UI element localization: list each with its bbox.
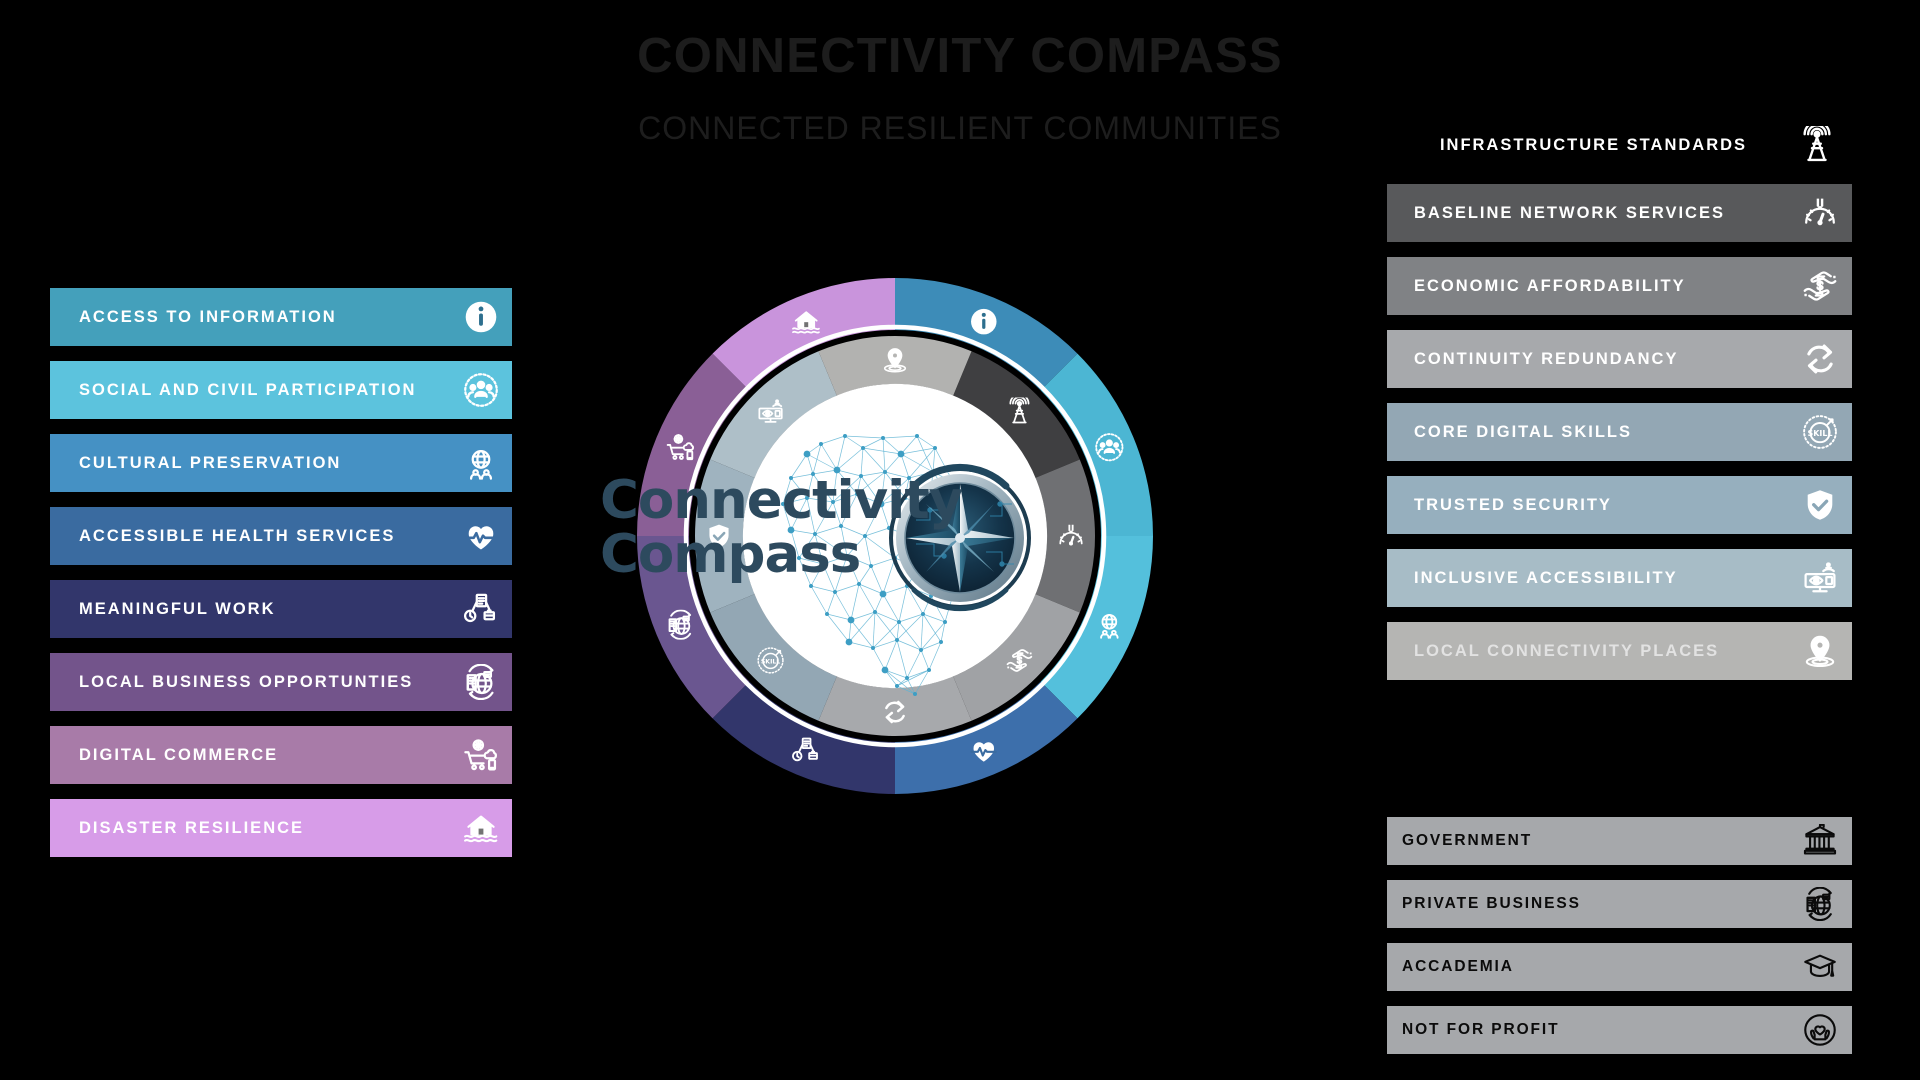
outcome-bar[interactable]: LOCAL BUSINESS OPPORTUNTIES <box>50 653 512 711</box>
standard-bar-label: LOCAL CONNECTIVITY PLACES <box>1387 642 1788 661</box>
compass-rose-logo <box>891 467 1029 608</box>
standard-bar-label: CORE DIGITAL SKILLS <box>1387 423 1788 442</box>
stakeholder-bar[interactable]: PRIVATE BUSINESS <box>1387 880 1852 928</box>
standards-header: INFRASTRUCTURE STANDARDS <box>1387 122 1852 168</box>
money-hand-icon <box>1788 257 1852 315</box>
standard-bar-label: ECONOMIC AFFORDABILITY <box>1387 277 1788 296</box>
work-tasks-icon <box>450 580 512 638</box>
outcome-bar-label: ACCESS TO INFORMATION <box>50 308 450 327</box>
standard-bar[interactable]: INCLUSIVE ACCESSIBILITY <box>1387 549 1852 607</box>
stakeholder-bar-label: PRIVATE BUSINESS <box>1387 895 1788 913</box>
standard-bar[interactable]: BASELINE NETWORK SERVICES <box>1387 184 1852 242</box>
outcome-bar[interactable]: ACCESSIBLE HEALTH SERVICES <box>50 507 512 565</box>
infrastructure-standards-panel: INFRASTRUCTURE STANDARDS BASELINE NETWOR… <box>1387 122 1852 695</box>
standard-bar-label: BASELINE NETWORK SERVICES <box>1387 204 1788 223</box>
outcome-bar-label: CULTURAL PRESERVATION <box>50 454 450 473</box>
radio-tower-icon <box>1782 122 1852 168</box>
business-globe-icon <box>450 653 512 711</box>
shopping-cart-icon <box>450 726 512 784</box>
stakeholder-bar-label: ACCADEMIA <box>1387 958 1788 976</box>
outcome-bar-label: DIGITAL COMMERCE <box>50 746 450 765</box>
skill-badge-icon: SKILL <box>1788 403 1852 461</box>
standard-bar-label: INCLUSIVE ACCESSIBILITY <box>1387 569 1788 588</box>
information-icon <box>450 288 512 346</box>
eye-screen-icon <box>1788 549 1852 607</box>
wheel-diagram: SKILL <box>545 186 1245 886</box>
standards-list: BASELINE NETWORK SERVICES ECONOMIC AFFOR… <box>1387 184 1852 680</box>
people-group-icon <box>450 361 512 419</box>
standard-bar-label: TRUSTED SECURITY <box>1387 496 1788 515</box>
outcome-bar-label: ACCESSIBLE HEALTH SERVICES <box>50 527 450 546</box>
refresh-loop-icon <box>1788 330 1852 388</box>
connectivity-compass-wheel: SKILL Connectivity Compass <box>545 186 1245 886</box>
standard-bar[interactable]: CORE DIGITAL SKILLS SKILL <box>1387 403 1852 461</box>
standard-bar[interactable]: CONTINUITY REDUNDANCY <box>1387 330 1852 388</box>
outcomes-list: ACCESS TO INFORMATION SOCIAL AND CIVIL P… <box>50 288 512 872</box>
svg-text:SKILL: SKILL <box>761 658 780 665</box>
stakeholder-bar-label: GOVERNMENT <box>1387 832 1788 850</box>
graduation-cap-icon <box>1788 943 1852 991</box>
standard-bar[interactable]: LOCAL CONNECTIVITY PLACES <box>1387 622 1852 680</box>
outcome-bar-label: MEANINGFUL WORK <box>50 600 450 619</box>
stakeholder-bar[interactable]: NOT FOR PROFIT <box>1387 1006 1852 1054</box>
government-building-icon <box>1788 817 1852 865</box>
standard-bar-label: CONTINUITY REDUNDANCY <box>1387 350 1788 369</box>
information-icon <box>971 309 997 335</box>
stakeholder-bar[interactable]: GOVERNMENT <box>1387 817 1852 865</box>
outcome-bar-label: LOCAL BUSINESS OPPORTUNTIES <box>50 673 450 692</box>
outcome-bar[interactable]: ACCESS TO INFORMATION <box>50 288 512 346</box>
map-pin-icon <box>1788 622 1852 680</box>
flood-house-icon <box>450 799 512 857</box>
heartbeat-icon <box>450 507 512 565</box>
outcome-bar[interactable]: SOCIAL AND CIVIL PARTICIPATION <box>50 361 512 419</box>
stakeholder-bar-label: NOT FOR PROFIT <box>1387 1021 1788 1039</box>
speed-gauge-icon <box>1788 184 1852 242</box>
standard-bar[interactable]: ECONOMIC AFFORDABILITY <box>1387 257 1852 315</box>
hands-heart-icon <box>1788 1006 1852 1054</box>
outcome-bar-label: DISASTER RESILIENCE <box>50 819 450 838</box>
shield-check-icon <box>1788 476 1852 534</box>
stakeholders-list: GOVERNMENT PRIVATE BUSINESS ACCADEMIA NO… <box>1387 817 1852 1069</box>
page-title: CONNECTIVITY COMPASS <box>0 28 1920 84</box>
infographic-canvas: CONNECTIVITY COMPASS CONNECTED RESILIENT… <box>0 0 1920 1080</box>
globe-culture-icon <box>450 434 512 492</box>
standards-header-label: INFRASTRUCTURE STANDARDS <box>1387 136 1782 155</box>
outcome-bar[interactable]: DISASTER RESILIENCE <box>50 799 512 857</box>
outcome-bar[interactable]: CULTURAL PRESERVATION <box>50 434 512 492</box>
outcome-bar[interactable]: MEANINGFUL WORK <box>50 580 512 638</box>
outcome-bar-label: SOCIAL AND CIVIL PARTICIPATION <box>50 381 450 400</box>
standard-bar[interactable]: TRUSTED SECURITY <box>1387 476 1852 534</box>
svg-text:SKILL: SKILL <box>1808 429 1833 438</box>
stakeholder-bar[interactable]: ACCADEMIA <box>1387 943 1852 991</box>
outcome-bar[interactable]: DIGITAL COMMERCE <box>50 726 512 784</box>
business-globe-icon <box>1788 880 1852 928</box>
